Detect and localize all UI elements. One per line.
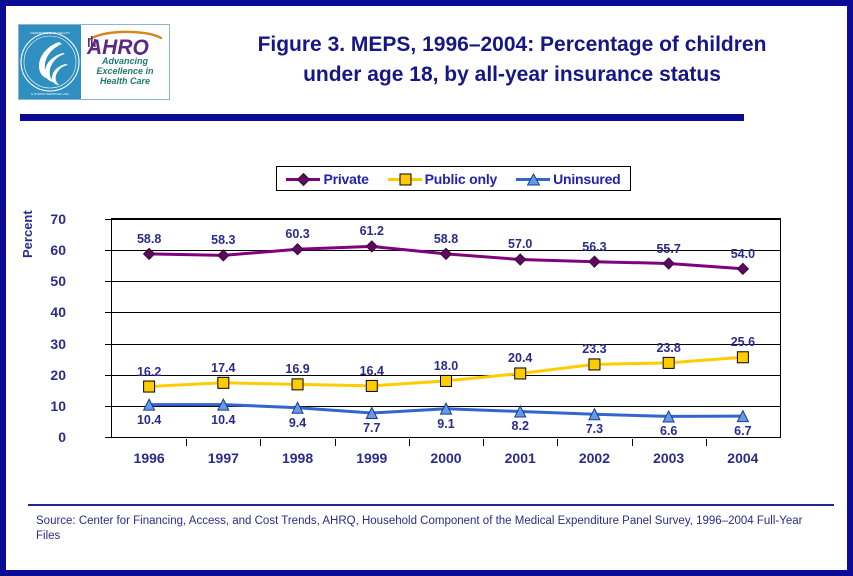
legend-label-private: Private [323, 171, 368, 187]
square-marker-icon [218, 377, 229, 388]
y-tick-label: 20 [26, 368, 66, 382]
data-label: 7.3 [569, 422, 619, 436]
chart-legend: Private Public only Uninsured [276, 166, 631, 191]
x-tick-label: 2002 [559, 450, 629, 466]
square-marker-icon [144, 381, 155, 392]
tagline-line-2: Excellence in [96, 66, 153, 76]
data-label: 16.2 [124, 365, 174, 379]
data-label: 9.1 [421, 417, 471, 431]
square-marker-icon [589, 359, 600, 370]
legend-label-public-only: Public only [425, 171, 497, 187]
triangle-marker-icon [516, 172, 550, 186]
data-label: 55.7 [644, 242, 694, 256]
y-tick-label: 0 [26, 430, 66, 444]
data-label: 20.4 [495, 351, 545, 365]
slide-frame: DEPARTMENT OF HEALTH & HUMAN SERVICES US… [0, 0, 853, 576]
x-tick-label: 1999 [337, 450, 407, 466]
data-label: 10.4 [198, 413, 248, 427]
ahrq-wordmark-icon: AHRQ [83, 29, 167, 55]
data-label: 54.0 [718, 247, 768, 261]
page-title: Figure 3. MEPS, 1996–2004: Percentage of… [182, 30, 842, 90]
diamond-marker-icon [144, 248, 155, 259]
x-tick-label: 1997 [188, 450, 258, 466]
data-label: 57.0 [495, 237, 545, 251]
legend-item-private[interactable]: Private [286, 171, 368, 187]
source-divider [28, 504, 834, 506]
diamond-marker-icon [292, 244, 303, 255]
svg-text:DEPARTMENT OF HEALTH: DEPARTMENT OF HEALTH [31, 31, 70, 35]
x-tick-label: 2000 [411, 450, 481, 466]
data-label: 8.2 [495, 419, 545, 433]
legend-item-public-only[interactable]: Public only [388, 171, 497, 187]
diamond-marker-icon [286, 172, 320, 186]
header-divider [20, 114, 744, 121]
source-line-1: Source: Center for Financing, Access, an… [36, 515, 693, 527]
y-tick-label: 50 [26, 274, 66, 288]
data-label: 58.8 [124, 232, 174, 246]
data-label: 6.7 [718, 424, 768, 438]
diamond-marker-icon [515, 254, 526, 265]
data-label: 10.4 [124, 413, 174, 427]
x-tick-mark [483, 439, 484, 446]
y-tick-label: 40 [26, 305, 66, 319]
data-label: 56.3 [569, 240, 619, 254]
data-label: 61.2 [347, 224, 397, 238]
x-tick-label: 2003 [634, 450, 704, 466]
x-tick-mark [557, 439, 558, 446]
square-marker-icon [366, 380, 377, 391]
square-marker-icon [737, 352, 748, 363]
data-label: 16.9 [273, 362, 323, 376]
diamond-marker-icon [366, 241, 377, 252]
data-label: 18.0 [421, 359, 471, 373]
data-label: 23.3 [569, 342, 619, 356]
y-tick-label: 70 [26, 212, 66, 226]
x-tick-label: 2001 [485, 450, 555, 466]
data-label: 16.4 [347, 364, 397, 378]
hhs-seal-icon: DEPARTMENT OF HEALTH & HUMAN SERVICES US… [19, 25, 81, 99]
page-title-line-1: Figure 3. MEPS, 1996–2004: Percentage of… [182, 30, 842, 60]
diamond-marker-icon [218, 250, 229, 261]
square-marker-icon [441, 375, 452, 386]
x-tick-mark [335, 439, 336, 446]
data-label: 7.7 [347, 421, 397, 435]
data-label: 25.6 [718, 335, 768, 349]
ahrq-tagline: Advancing Excellence in Health Care [96, 56, 153, 86]
data-label: 9.4 [273, 416, 323, 430]
square-marker-icon [388, 172, 422, 186]
tagline-line-3: Health Care [96, 76, 153, 86]
data-label: 60.3 [273, 227, 323, 241]
square-marker-icon [515, 368, 526, 379]
y-tick-label: 60 [26, 243, 66, 257]
x-tick-mark [706, 439, 707, 446]
diamond-marker-icon [737, 263, 748, 274]
x-tick-label: 1996 [114, 450, 184, 466]
x-tick-mark [409, 439, 410, 446]
diamond-marker-icon [441, 248, 452, 259]
svg-text:& HUMAN SERVICES USA: & HUMAN SERVICES USA [31, 92, 70, 96]
x-tick-mark [632, 439, 633, 446]
data-label: 23.8 [644, 341, 694, 355]
y-tick-label: 10 [26, 399, 66, 413]
ahrq-logo: DEPARTMENT OF HEALTH & HUMAN SERVICES US… [18, 24, 170, 100]
source-note: Source: Center for Financing, Access, an… [36, 514, 826, 544]
diamond-marker-icon [589, 256, 600, 267]
slide-header: DEPARTMENT OF HEALTH & HUMAN SERVICES US… [12, 12, 853, 108]
tagline-line-1: Advancing [96, 56, 153, 66]
y-tick-label: 30 [26, 337, 66, 351]
ahrq-wordmark-block: AHRQ Advancing Excellence in Health Care [81, 25, 169, 99]
legend-item-uninsured[interactable]: Uninsured [516, 171, 620, 187]
x-tick-mark [186, 439, 187, 446]
x-tick-label: 1998 [263, 450, 333, 466]
legend-label-uninsured: Uninsured [553, 171, 620, 187]
page-title-line-2: under age 18, by all-year insurance stat… [182, 60, 842, 90]
data-label: 17.4 [198, 361, 248, 375]
data-label: 6.6 [644, 424, 694, 438]
square-marker-icon [663, 357, 674, 368]
x-tick-label: 2004 [708, 450, 778, 466]
square-marker-icon [292, 379, 303, 390]
diamond-marker-icon [663, 258, 674, 269]
data-label: 58.8 [421, 232, 471, 246]
x-tick-mark [260, 439, 261, 446]
data-label: 58.3 [198, 233, 248, 247]
